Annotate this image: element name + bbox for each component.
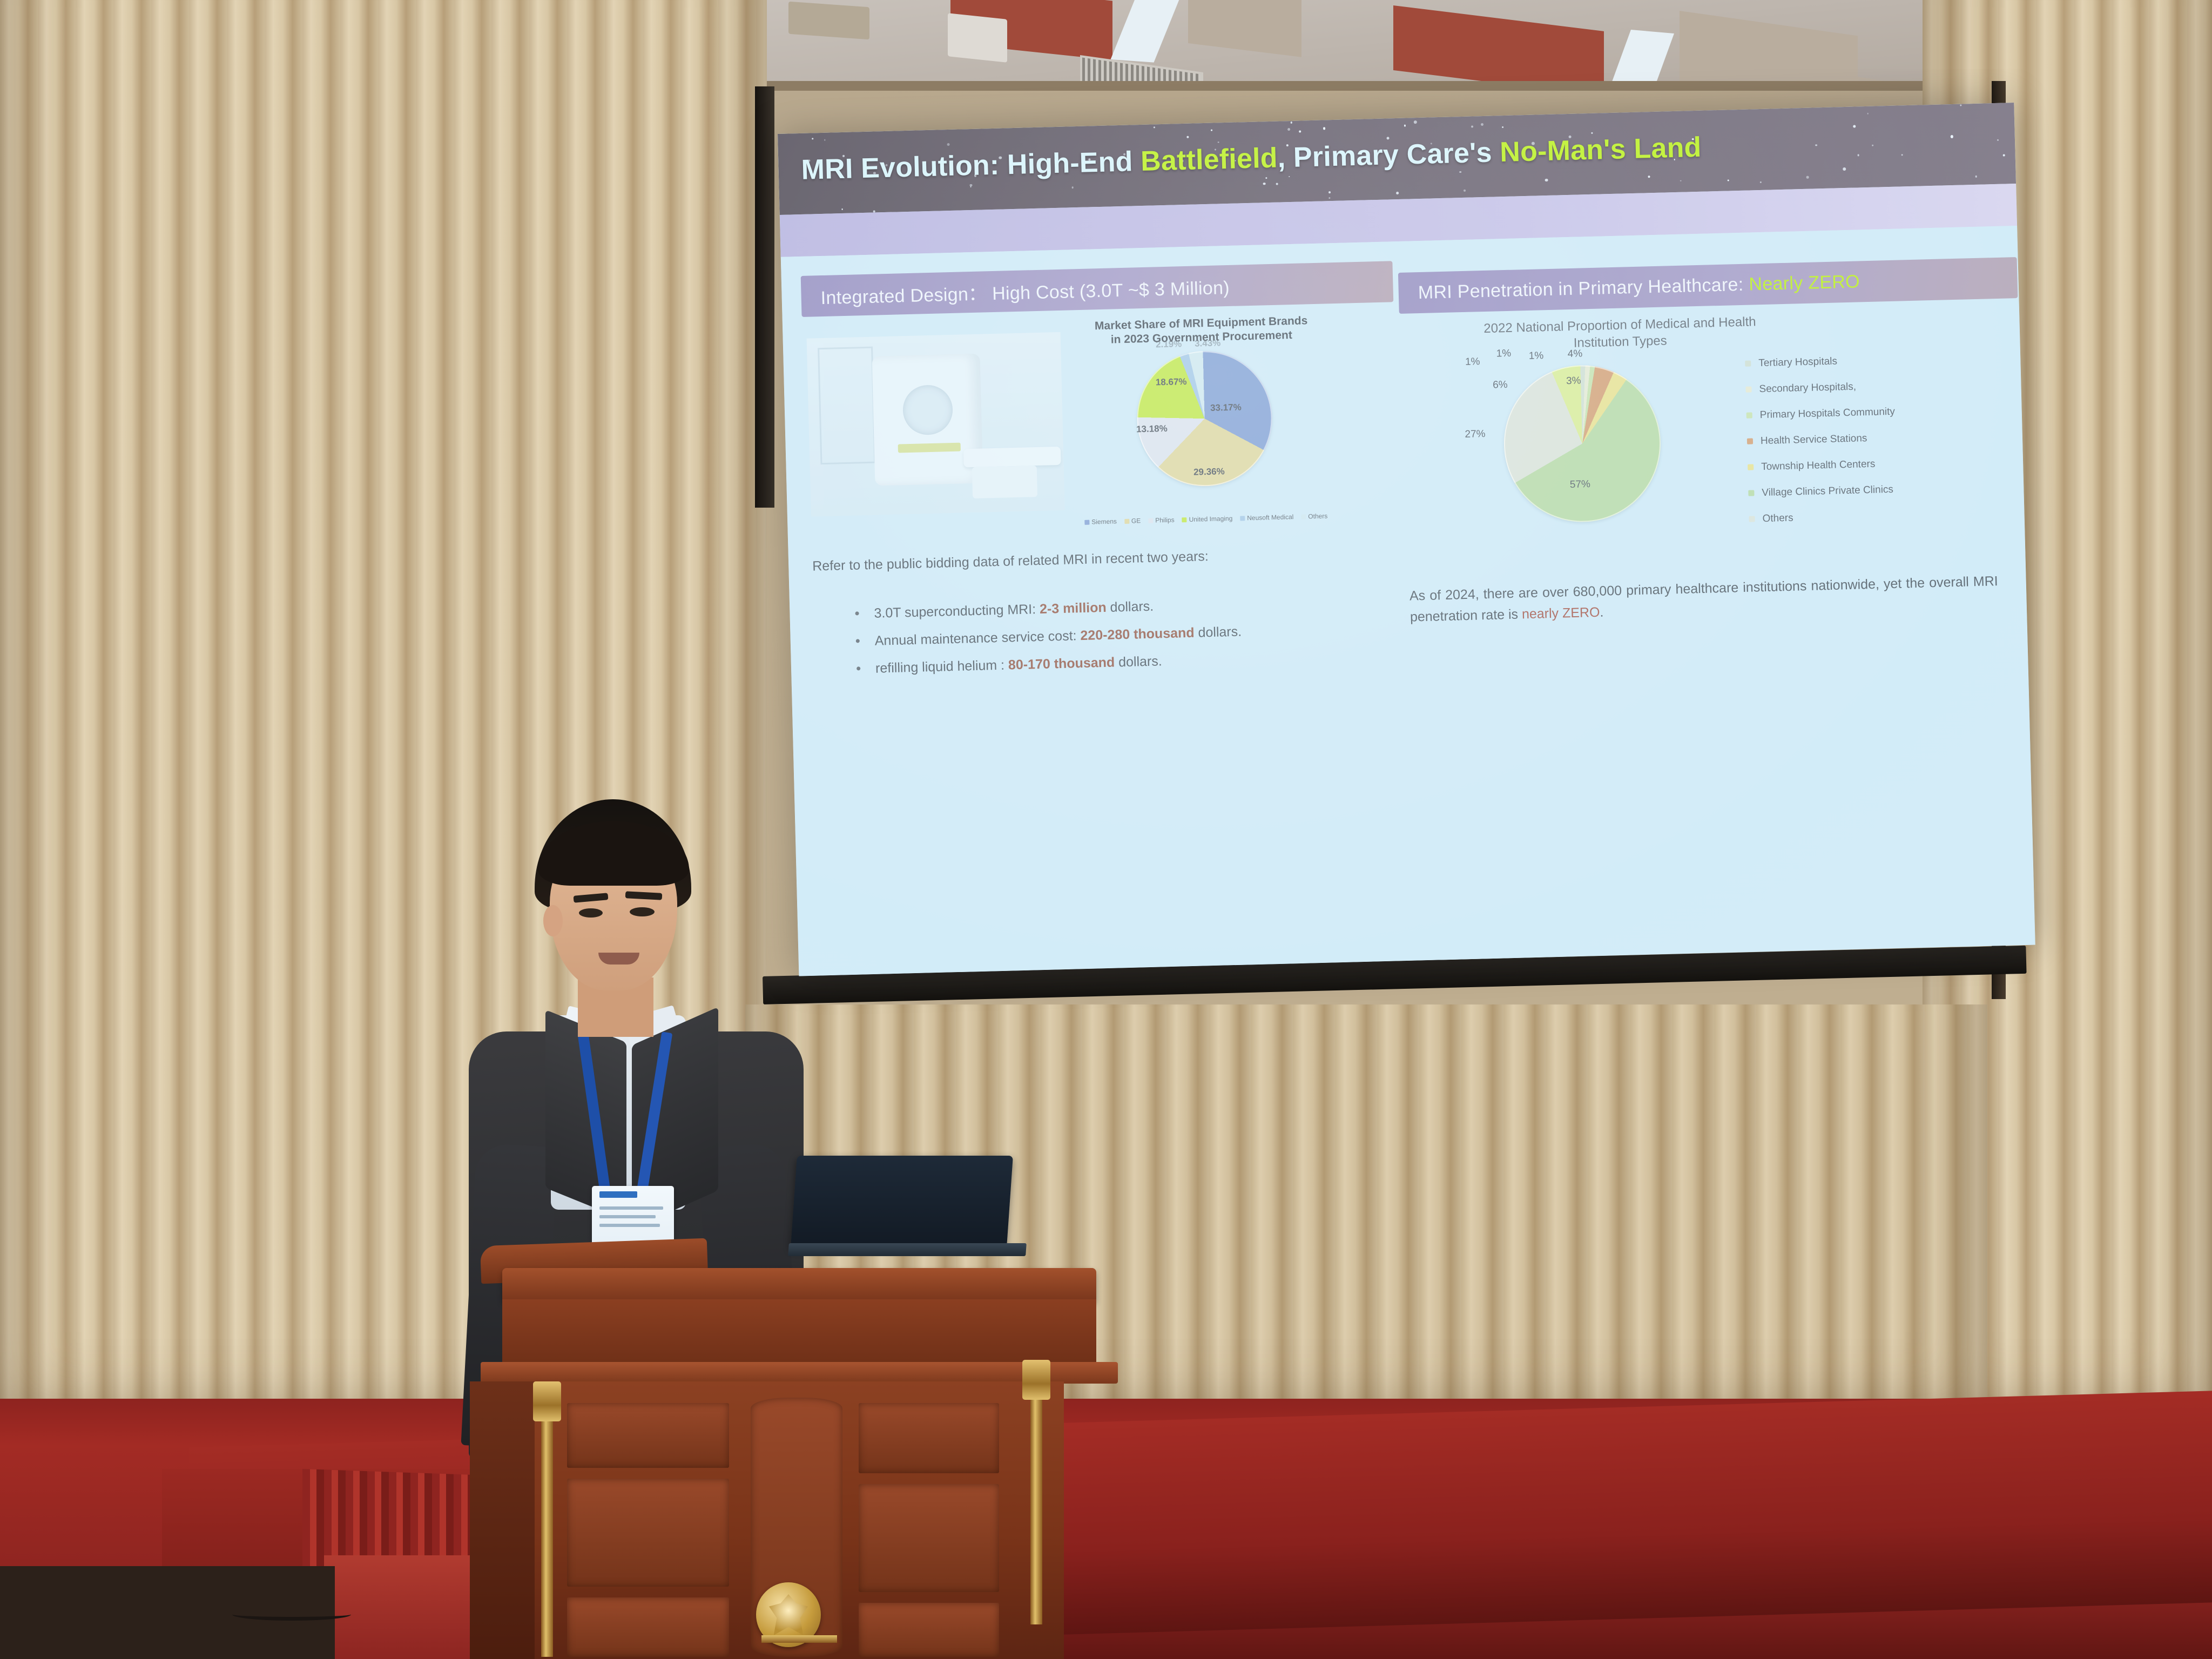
institution-chart-title-line1: 2022 National Proportion of Medical and … — [1483, 314, 1756, 336]
mri-room-wall — [818, 347, 875, 465]
lectern-gold-trim — [761, 1635, 837, 1643]
institution-legend-label: Tertiary Hospitals — [1758, 356, 1837, 368]
legend-swatch-icon — [1749, 516, 1755, 522]
mri-accent-strip — [898, 443, 961, 453]
bullet-tail: dollars. — [1194, 624, 1242, 640]
bullet-value: 2-3 million — [1040, 600, 1107, 617]
photo-scene: MRI Evolution: High-End Battlefield, Pri… — [0, 0, 2212, 1659]
brand-legend-label: United Imaging — [1189, 515, 1232, 523]
laptop — [794, 1156, 1021, 1258]
cost-bullet-item: 3.0T superconducting MRI: 2-3 million do… — [850, 592, 1395, 622]
mri-penetration-header: MRI Penetration in Primary Healthcare: N… — [1398, 257, 2018, 314]
presenter-eye-left — [579, 908, 603, 918]
bullet-lead: 3.0T superconducting MRI: — [874, 602, 1040, 621]
lectern-panel — [567, 1479, 729, 1587]
bullet-tail: dollars. — [1106, 599, 1154, 615]
brand-legend-label: Philips — [1155, 516, 1175, 524]
legend-swatch-icon — [1084, 520, 1089, 524]
inst-label-3pct: 3% — [1566, 375, 1581, 388]
institution-legend-label: Primary Hospitals Community — [1760, 406, 1896, 420]
ceiling-panel — [1188, 0, 1301, 57]
cost-bullet-item: Annual maintenance service cost: 220-280… — [851, 620, 1396, 650]
laptop-base — [788, 1243, 1027, 1256]
legend-swatch-icon — [1182, 517, 1186, 522]
integrated-design-header: Integrated Design： High Cost (3.0T ~$ 3 … — [801, 261, 1394, 317]
institution-legend-label: Village Clinics Private Clinics — [1762, 484, 1893, 497]
lectern-body — [535, 1381, 1064, 1659]
brand-legend-item: Others — [1301, 512, 1327, 520]
mri-patient-table — [963, 447, 1061, 468]
penetration-paragraph: As of 2024, there are over 680,000 prima… — [1410, 571, 1999, 628]
badge-line — [599, 1215, 656, 1218]
badge-line — [599, 1224, 660, 1227]
brand-legend-item: United Imaging — [1182, 515, 1232, 523]
brand-slice-label-ge: 29.36% — [1193, 466, 1225, 477]
lectern-panel — [859, 1484, 999, 1592]
bullet-value: 220-280 thousand — [1080, 625, 1195, 643]
lectern-front-band — [502, 1299, 1096, 1370]
brand-slice-label-neusoft: 2.19% — [1156, 339, 1182, 350]
lectern-gold-capital-right — [1022, 1360, 1050, 1400]
mri-table-base — [972, 466, 1037, 498]
legend-swatch-icon — [1240, 516, 1245, 521]
legend-swatch-icon — [1748, 490, 1754, 496]
paragraph-zero-accent: nearly ZERO — [1522, 605, 1600, 622]
lectern-panel — [567, 1597, 729, 1657]
institution-pie — [1502, 363, 1662, 524]
brand-legend-item: GE — [1124, 517, 1141, 525]
inst-label-57pct: 57% — [1570, 478, 1591, 491]
bullet-lead: refilling liquid helium : — [875, 658, 1009, 676]
ceiling-recess — [948, 13, 1007, 63]
badge-line — [599, 1206, 663, 1210]
brand-legend-item: Neusoft Medical — [1240, 513, 1293, 522]
legend-swatch-icon — [1301, 514, 1306, 519]
legend-swatch-icon — [1124, 518, 1129, 523]
bullet-value: 80-170 thousand — [1008, 655, 1115, 673]
inst-label-4pct: 4% — [1568, 348, 1583, 360]
brand-legend-label: Neusoft Medical — [1247, 513, 1293, 522]
brand-slice-label-united: 18.67% — [1156, 376, 1187, 388]
brand-legend-label: Siemens — [1091, 517, 1117, 525]
inst-label-27pct: 27% — [1465, 428, 1486, 441]
institution-proportion-chart: 2022 National Proportion of Medical and … — [1398, 307, 2004, 560]
lectern-panel — [859, 1603, 999, 1657]
legend-swatch-icon — [1745, 386, 1751, 392]
inst-label-6pct: 6% — [1493, 379, 1508, 392]
slide-title-accent-2: No-Man's Land — [1500, 132, 1702, 168]
inst-label-1pct-b: 1% — [1496, 348, 1511, 360]
paragraph-tail: . — [1600, 604, 1604, 619]
cost-bullet-item: refilling liquid helium : 80-170 thousan… — [852, 648, 1397, 677]
institution-legend-label: Others — [1762, 512, 1793, 523]
brand-slice-label-others: 3.43% — [1195, 338, 1221, 349]
mri-scanner-photo — [807, 332, 1065, 517]
mri-penetration-label: MRI Penetration in Primary Healthcare: — [1418, 274, 1744, 303]
institution-chart-legend: Tertiary HospitalsSecondary Hospitals,Pr… — [1745, 344, 2003, 532]
lectern-gold-capital-left — [533, 1381, 561, 1421]
institution-chart-title: 2022 National Proportion of Medical and … — [1431, 312, 1809, 355]
lectern — [502, 1242, 1096, 1659]
floor-cable — [232, 1608, 351, 1621]
brand-legend-item: Siemens — [1084, 517, 1117, 526]
laptop-screen — [791, 1156, 1013, 1247]
institution-chart-title-line2: Institution Types — [1573, 334, 1667, 350]
slide-title-part-2: , Primary Care's — [1277, 137, 1500, 173]
brand-chart-legend: SiemensGEPhilipsUnited ImagingNeusoft Me… — [1079, 512, 1333, 526]
ceiling-panel-white — [1111, 0, 1180, 63]
institution-legend-label: Township Health Centers — [1761, 458, 1876, 471]
brand-legend-label: Others — [1308, 512, 1327, 520]
legend-swatch-icon — [1746, 412, 1752, 418]
institution-legend-label: Health Service Stations — [1761, 433, 1867, 446]
ceiling-recess — [788, 2, 869, 39]
integrated-design-label: Integrated Design： High Cost (3.0T ~$ 3 … — [820, 272, 1230, 309]
lectern-panel — [567, 1403, 729, 1468]
lectern-gold-column-left — [541, 1414, 553, 1657]
brand-slice-label-philips: 13.18% — [1136, 423, 1168, 435]
brand-market-share-chart: Market Share of MRI Equipment Brands in … — [1074, 313, 1333, 536]
refer-line: Refer to the public bidding data of rela… — [812, 549, 1209, 575]
badge-logo-icon — [599, 1191, 637, 1198]
legend-swatch-icon — [1745, 360, 1751, 366]
presenter-eye-right — [630, 907, 655, 916]
inst-label-1pct-a: 1% — [1465, 356, 1480, 368]
bullet-tail: dollars. — [1115, 653, 1162, 670]
legend-swatch-icon — [1747, 438, 1753, 444]
mri-penetration-accent: Nearly ZERO — [1749, 271, 1860, 295]
lectern-top — [502, 1268, 1096, 1301]
slide-body: Integrated Design： High Cost (3.0T ~$ 3 … — [781, 226, 2035, 976]
paragraph-lead: As of 2024, there are over 680,000 prima… — [1410, 574, 1998, 624]
cost-bullet-list: 3.0T superconducting MRI: 2-3 million do… — [828, 592, 1398, 690]
brand-legend-label: GE — [1131, 517, 1141, 524]
lectern-side-panel — [470, 1381, 545, 1659]
brand-slice-label-siemens: 33.17% — [1210, 402, 1242, 413]
institution-legend-label: Secondary Hospitals, — [1759, 381, 1856, 394]
presenter-ear — [543, 905, 563, 936]
legend-swatch-icon — [1148, 518, 1153, 523]
slide-title-accent-1: Battlefield — [1140, 143, 1278, 177]
lectern-gold-column-right — [1030, 1392, 1042, 1624]
bullet-lead: Annual maintenance service cost: — [874, 628, 1080, 649]
legend-swatch-icon — [1748, 464, 1754, 470]
lectern-panel — [859, 1403, 999, 1473]
brand-legend-item: Philips — [1148, 516, 1175, 524]
screen-left-edge — [755, 86, 774, 508]
presenter-mouth — [598, 953, 639, 965]
inst-label-1pct-c: 1% — [1529, 350, 1544, 362]
projected-slide: MRI Evolution: High-End Battlefield, Pri… — [778, 103, 2035, 976]
